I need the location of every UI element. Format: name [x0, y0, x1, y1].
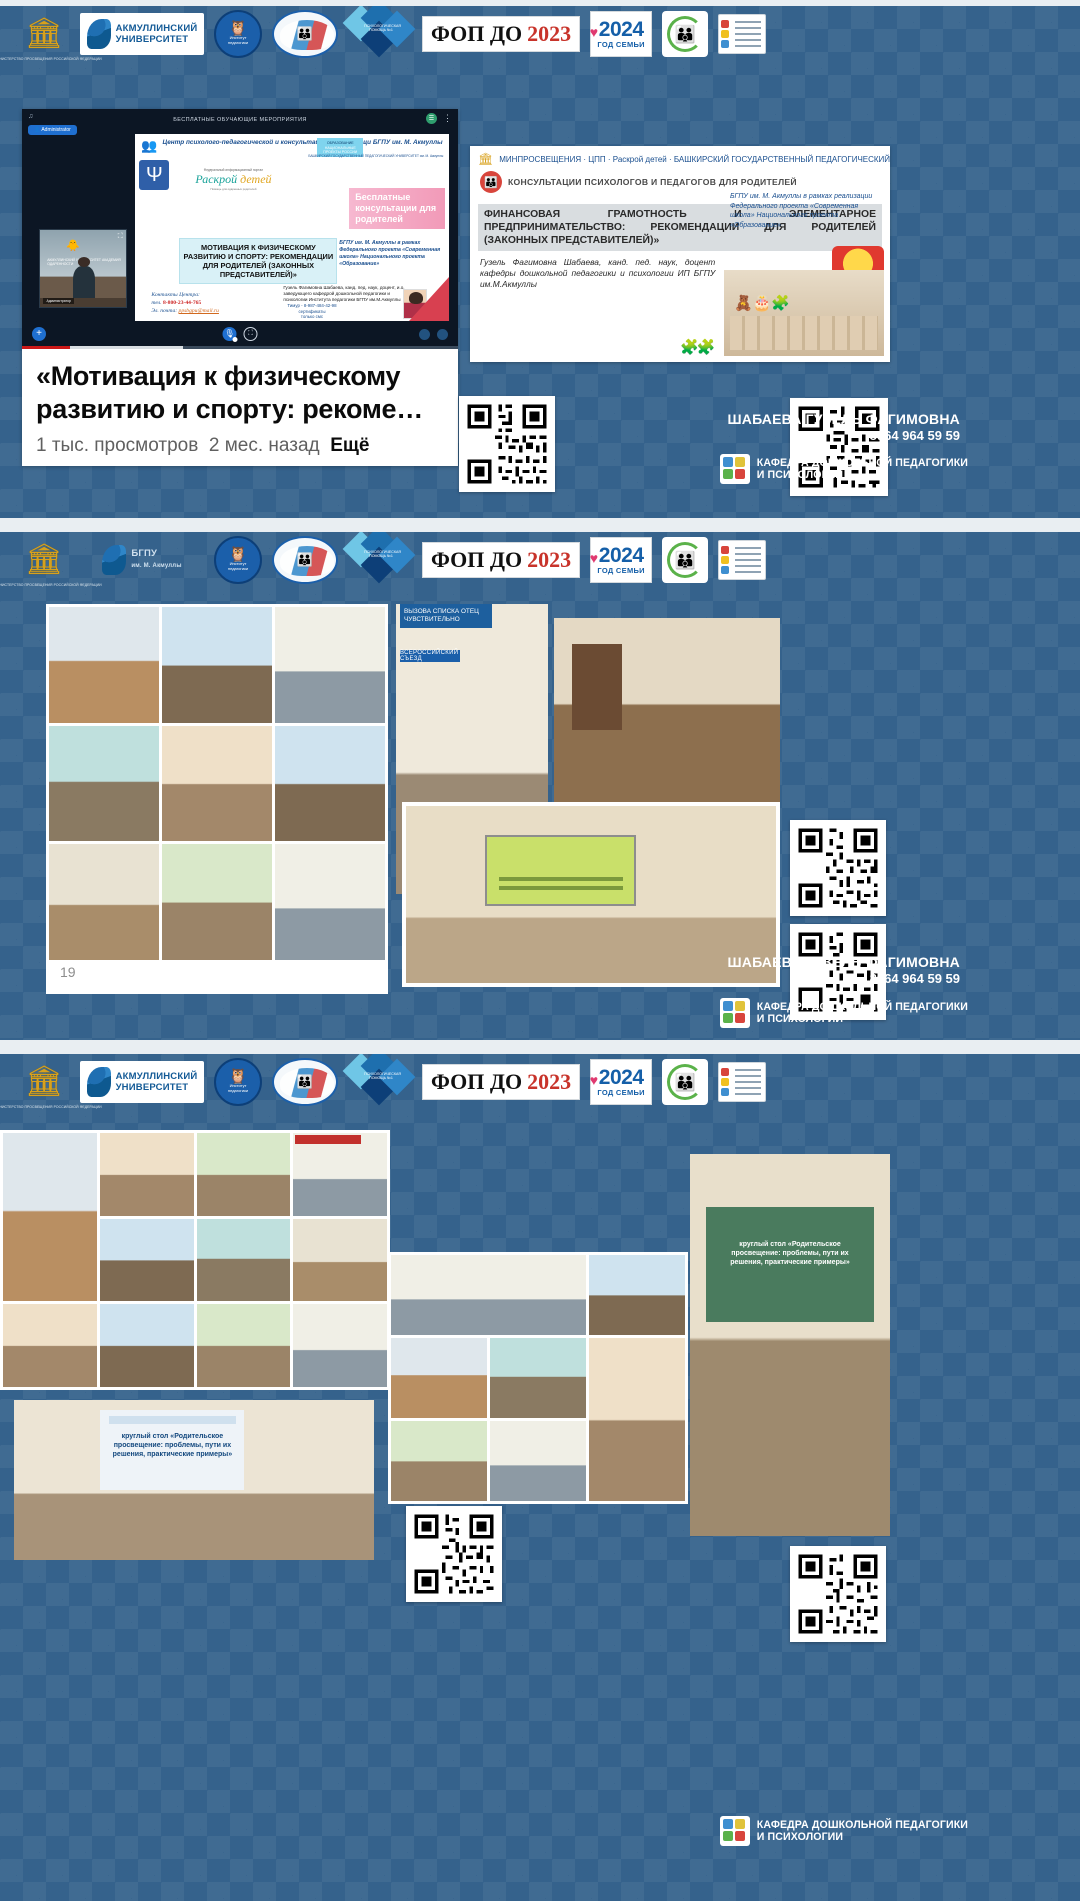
akmulla-line1: АКМУЛЛИНСКИЙ	[116, 23, 198, 34]
collage-photo	[293, 1219, 387, 1302]
slide-3-logo-strip: 🏛 МИНИСТЕРСТВО ПРОСВЕЩЕНИЯ РОССИЙСКОЙ ФЕ…	[0, 1054, 1080, 1110]
collage-photo	[490, 1338, 586, 1418]
poster-consult-title: КОНСУЛЬТАЦИИ ПСИХОЛОГОВ И ПЕДАГОГОВ ДЛЯ …	[508, 177, 797, 187]
russia-ministry-education-emblem-icon: 🏛 МИНИСТЕРСТВО ПРОСВЕЩЕНИЯ РОССИЙСКОЙ ФЕ…	[18, 8, 70, 60]
ombudsman-children-rights-logo-icon: 👪	[272, 536, 338, 584]
round-table-title: круглый стол «Родительское просвещение: …	[112, 1432, 233, 1459]
year-of-family-2024-logo-icon: 2024 ГОД СЕМЬИ	[590, 537, 652, 583]
presentation-red-corner	[409, 277, 449, 321]
expand-icon[interactable]: ⛶	[118, 233, 123, 241]
akmulla-university-logo-icon: АКМУЛЛИНСКИЙ УНИВЕРСИТЕТ	[80, 13, 204, 55]
slide-3-middle-collage	[388, 1252, 688, 1504]
russia-ministry-education-emblem-icon: 🏛 МИНИСТЕРСТВО ПРОСВЕЩЕНИЯ РОССИЙСКОЙ ФЕ…	[18, 1056, 70, 1108]
collage-photo	[100, 1219, 194, 1302]
slide-1-logo-strip: 🏛 МИНИСТЕРСТВО ПРОСВЕЩЕНИЯ РОССИЙСКОЙ ФЕ…	[0, 6, 1080, 62]
year-of-family-2024-logo-icon: 2024 ГОД СЕМЬИ	[590, 11, 652, 57]
slide-2-slide-number: 19	[60, 964, 76, 980]
fullscreen-icon[interactable]	[437, 329, 448, 340]
slide-3-qr-code-bottom-center[interactable]	[406, 1506, 502, 1602]
slide-2: 🏛 МИНИСТЕРСТВО ПРОСВЕЩЕНИЯ РОССИЙСКОЙ ФЕ…	[0, 532, 1080, 1040]
slide-3-qr-code-bottom-right[interactable]	[790, 1546, 886, 1642]
speaker-name: ШАБАЕВА ГУЗЕЛЬ ФАГИМОВНА	[728, 411, 961, 428]
projection-title: круглый стол «Родительское просвещение: …	[719, 1240, 860, 1267]
fop-do-2023-logo-icon: ФОП ДО 2023	[422, 542, 580, 578]
video-title[interactable]: «Мотивация к физическому развитию и спор…	[36, 360, 444, 426]
people-badge-icon: 👪	[480, 171, 502, 193]
collage-photo	[275, 607, 385, 723]
selfview-name-label: Администратор	[43, 298, 73, 304]
dept-line2: И ПСИХОЛОГИИ	[757, 1013, 843, 1025]
speaker-phone: 8964 964 59 59	[728, 428, 961, 444]
fop-do-2023-logo-icon: ФОП ДО 2023	[422, 16, 580, 52]
family-support-logo-icon: 👪	[662, 11, 708, 57]
camera-icon[interactable]: ⛶	[244, 327, 258, 341]
center-logo-people-icon: 👥	[141, 139, 157, 152]
dept-line1: КАФЕДРА ДОШКОЛЬНОЙ ПЕДАГОГИКИ	[757, 1001, 968, 1013]
slide-2-qr-code-upper-right[interactable]	[790, 820, 886, 916]
dept-line2: И ПСИХОЛОГИИ	[757, 469, 843, 481]
puzzle-icon: 🧩🧩	[680, 338, 713, 356]
player-topbar-title: БЕСПЛАТНЫЕ ОБУЧАЮЩИЕ МЕРОПРИЯТИЯ	[22, 109, 458, 131]
dept-line1: КАФЕДРА ДОШКОЛЬНОЙ ПЕДАГОГИКИ	[757, 457, 968, 469]
progress-bar[interactable]	[22, 346, 458, 349]
ombudsman-children-rights-logo-icon: 👪	[272, 10, 338, 58]
children-icon: 👪	[297, 1074, 313, 1090]
slide-3-three-speakers-photo: круглый стол «Родительское просвещение: …	[690, 1154, 890, 1536]
poster-photo: 🧸🎂🧩	[724, 270, 884, 356]
player-controls[interactable]: + 🎙 ⛶	[22, 325, 458, 349]
share-screen-icon[interactable]: ☰	[426, 113, 437, 124]
dept-line2: И ПСИХОЛОГИИ	[757, 1831, 843, 1843]
psi-letter-icon: Ψ	[139, 160, 169, 190]
youtube-player[interactable]: ♫ БЕСПЛАТНЫЕ ОБУЧАЮЩИЕ МЕРОПРИЯТИЯ 👤 Adm…	[22, 109, 458, 349]
owl-icon: 🦉	[229, 1070, 248, 1084]
dept-logo-icon	[720, 454, 750, 484]
russia-ministry-education-emblem-icon: 🏛 МИНИСТЕРСТВО ПРОСВЕЩЕНИЯ РОССИЙСКОЙ ФЕ…	[18, 534, 70, 586]
speaker-selfview-thumbnail[interactable]: 🐥 АКМУЛЛИНСКИЙ УНИВЕРСИТЕТ АКАДЕМИЯ ОДАР…	[39, 229, 126, 308]
collage-photo	[3, 1304, 97, 1387]
emblem-icon: 🏛	[478, 152, 493, 166]
institute-of-pedagogy-logo-icon: 🦉 Институт педагогики	[214, 1058, 262, 1106]
shared-presentation-slide: 👥 Центр психолого-педагогической и консу…	[135, 134, 449, 321]
notebook-dice-logo-icon	[718, 540, 766, 580]
psychological-help-logo-icon: ПСИХОЛОГИЧЕСКАЯ ПОМОЩЬ №1	[348, 1056, 412, 1108]
family-year: 2024	[599, 20, 644, 40]
akmulla-swoosh-icon	[87, 1067, 111, 1097]
collage-photo	[589, 1255, 685, 1335]
collage-photo	[162, 844, 272, 960]
collage-photo	[3, 1133, 97, 1301]
notebook-dice-logo-icon	[718, 14, 766, 54]
collage-photo	[275, 844, 385, 960]
speaker-name: ШАБАЕВА ГУЗЕЛЬ ФАГИМОВНА	[728, 954, 961, 971]
video-age: 2 мес. назад	[209, 435, 320, 456]
owl-icon: 🦉	[229, 22, 248, 36]
akmulla-university-logo-icon: АКМУЛЛИНСКИЙ УНИВЕРСИТЕТ	[80, 1061, 204, 1103]
qr-code-bottom-center-icon	[411, 1511, 497, 1597]
psych-help-caption: ПСИХОЛОГИЧЕСКАЯ ПОМОЩЬ №1	[364, 24, 398, 33]
year-of-family-2024-logo-icon: 2024 ГОД СЕМЬИ	[590, 1059, 652, 1105]
slide-2-hall-photo	[402, 802, 780, 987]
video-more-button[interactable]: Ещё	[330, 435, 369, 456]
slide-2-left-collage	[46, 604, 388, 994]
presentation-certificates-contact: Тимур - 8-987-484-42-98 сертификаты толь…	[287, 303, 336, 319]
swan-icon: 🐥	[66, 239, 80, 252]
ombudsman-children-rights-logo-icon: 👪	[272, 1058, 338, 1106]
family-support-logo-icon: 👪	[662, 1059, 708, 1105]
slide-3-dept-badge: КАФЕДРА ДОШКОЛЬНОЙ ПЕДАГОГИКИ И ПСИХОЛОГ…	[720, 1816, 968, 1846]
collage-photo	[197, 1304, 291, 1387]
speaker-phone: 8964 964 59 59	[728, 971, 961, 987]
slide-3: 🏛 МИНИСТЕРСТВО ПРОСВЕЩЕНИЯ РОССИЙСКОЙ ФЕ…	[0, 1054, 1080, 1901]
slide-deck-page: 🏛 МИНИСТЕРСТВО ПРОСВЕЩЕНИЯ РОССИЙСКОЙ ФЕ…	[0, 0, 1080, 1901]
poster-top-logos-text: МИНПРОСВЕЩЕНИЯ · ЦПП · Раскрой детей · Б…	[499, 155, 890, 164]
fop-label: ФОП ДО	[431, 23, 522, 45]
slide-2-speaker-caption: ШАБАЕВА ГУЗЕЛЬ ФАГИМОВНА 8964 964 59 59	[728, 954, 961, 987]
notebook-dice-logo-icon	[718, 1062, 766, 1102]
collage-photo	[391, 1338, 487, 1418]
slide-3-left-collage	[0, 1130, 390, 1390]
qr-code-bottom-right-icon	[795, 1551, 881, 1637]
slide-1-dept-badge: КАФЕДРА ДОШКОЛЬНОЙ ПЕДАГОГИКИ И ПСИХОЛОГ…	[720, 454, 968, 484]
akmulla-swoosh-icon	[87, 19, 111, 49]
slide-1-speaker-caption: ШАБАЕВА ГУЗЕЛЬ ФАГИМОВНА 8964 964 59 59	[728, 411, 961, 444]
children-icon: 👪	[297, 552, 313, 568]
collage-caption-row	[49, 963, 385, 991]
fop-do-2023-logo-icon: ФОП ДО 2023	[422, 1064, 580, 1100]
collage-photo	[391, 1421, 487, 1501]
youtube-video-card[interactable]: ♫ БЕСПЛАТНЫЕ ОБУЧАЮЩИЕ МЕРОПРИЯТИЯ 👤 Adm…	[22, 109, 458, 466]
slide-2-logo-strip: 🏛 МИНИСТЕРСТВО ПРОСВЕЩЕНИЯ РОССИЙСКОЙ ФЕ…	[0, 532, 1080, 588]
dept-line1: КАФЕДРА ДОШКОЛЬНОЙ ПЕДАГОГИКИ	[757, 1819, 968, 1831]
dept-logo-icon	[720, 1816, 750, 1846]
emblem-caption: МИНИСТЕРСТВО ПРОСВЕЩЕНИЯ РОССИЙСКОЙ ФЕДЕ…	[0, 57, 94, 61]
microphone-icon[interactable]: 🎙	[223, 327, 237, 341]
page-gap-1	[0, 518, 1080, 532]
children-icon: 👪	[297, 26, 313, 42]
raskroi-portal-logo: Федеральный информационный портал Раскро…	[195, 168, 271, 191]
video-views: 1 тыс. просмотров	[36, 435, 198, 456]
player-top-right-controls[interactable]: ☰ ⋮	[426, 113, 452, 124]
admin-badge: 👤 Administrator	[28, 125, 77, 135]
more-options-icon[interactable]: ⋮	[443, 114, 452, 123]
slide-1-qr-code-left[interactable]	[459, 396, 555, 492]
institute-of-pedagogy-logo-icon: 🦉 Институт педагогики	[214, 536, 262, 584]
collage-photo	[589, 1338, 685, 1501]
slide-1-poster: 🏛 МИНПРОСВЕЩЕНИЯ · ЦПП · Раскрой детей ·…	[470, 146, 890, 362]
collage-photo	[275, 726, 385, 842]
poster-top-logos: 🏛 МИНПРОСВЕЩЕНИЯ · ЦПП · Раскрой детей ·…	[470, 146, 890, 168]
collage-photo	[197, 1219, 291, 1302]
collage-photo	[293, 1133, 387, 1216]
add-icon[interactable]: +	[32, 327, 46, 341]
collage-photo	[49, 726, 159, 842]
red-banner	[295, 1135, 361, 1144]
collage-photo	[100, 1133, 194, 1216]
collage-photo	[100, 1304, 194, 1387]
free-consultations-banner: Бесплатные консультации для родителей	[349, 188, 445, 229]
dept-logo-icon	[720, 998, 750, 1028]
slide-2-dept-badge: КАФЕДРА ДОШКОЛЬНОЙ ПЕДАГОГИКИ И ПСИХОЛОГ…	[720, 998, 968, 1028]
akmulla-line2: УНИВЕРСИТЕТ	[116, 34, 189, 45]
institute-of-pedagogy-logo-icon: 🦉 Институт педагогики	[214, 10, 262, 58]
poster-bgpu-text: БГПУ им. М. Акмуллы в рамках реализации …	[730, 192, 880, 230]
family-support-logo-icon: 👪	[662, 537, 708, 583]
psychological-help-logo-icon: ПСИХОЛОГИЧЕСКАЯ ПОМОЩЬ №1	[348, 8, 412, 60]
slide-2-seminar-photo	[554, 618, 780, 804]
right-photo-projection: круглый стол «Родительское просвещение: …	[706, 1207, 874, 1322]
projection-screen	[485, 835, 636, 905]
collage-photo	[49, 607, 159, 723]
akmulla-swoosh-icon	[102, 545, 126, 575]
page-gap-2	[0, 1040, 1080, 1054]
psychological-help-logo-icon: ПСИХОЛОГИЧЕСКАЯ ПОМОЩЬ №1	[348, 534, 412, 586]
collage-photo	[490, 1421, 586, 1501]
presentation-right-text: БГПУ им. М. Акмуллы в рамках Федеральног…	[339, 240, 443, 268]
slide-1: 🏛 МИНИСТЕРСТВО ПРОСВЕЩЕНИЯ РОССИЙСКОЙ ФЕ…	[0, 6, 1080, 518]
qr-code-left-icon	[464, 401, 550, 487]
slide-3-round-table-photo: круглый стол «Родительское просвещение: …	[14, 1400, 374, 1560]
collage-photo	[162, 607, 272, 723]
round-table-projection: круглый стол «Родительское просвещение: …	[100, 1410, 244, 1490]
presentation-bgpu-logo: БАШКИРСКИЙ ГОСУДАРСТВЕННЫЙ ПЕДАГОГИЧЕСКИ…	[308, 144, 443, 162]
qr-code-upper-right-icon	[795, 825, 881, 911]
collage-photo	[197, 1133, 291, 1216]
collage-photo	[162, 726, 272, 842]
youtube-video-meta: «Мотивация к физическому развитию и спор…	[22, 349, 458, 466]
slide-2-banner: ВСЕРОССИЙСКИЙ СЪЕЗД	[400, 650, 460, 662]
presentation-speaker-bio: Гузель Фагимовна Шабаева, канд. пед. нау…	[283, 285, 405, 303]
video-stats: 1 тыс. просмотров 2 мес. назад Ещё	[36, 435, 444, 457]
presentation-slide-title: МОТИВАЦИЯ К ФИЗИЧЕСКОМУ РАЗВИТИЮ И СПОРТ…	[179, 238, 337, 284]
instped-line2: педагогики	[228, 41, 248, 46]
fop-year: 2023	[527, 23, 571, 45]
family-subtitle: ГОД СЕМЬИ	[597, 40, 644, 49]
owl-icon: 🦉	[229, 548, 248, 562]
akmulla-university-logo-icon: БГПУим. М. Акмуллы	[80, 539, 204, 581]
settings-icon[interactable]	[419, 329, 430, 340]
collage-photo	[293, 1304, 387, 1387]
poster-bio: Гузель Фагимовна Шабаева, канд. пед. нау…	[480, 257, 715, 290]
slide-2-vlist-banner: ВЫЗОВА СПИСКА ОТЕЦ ЧУВСТВИТЕЛЬНО	[400, 604, 492, 628]
presentation-contacts: Контакты Центра: тел. 8-800-23-44-765 Эл…	[151, 291, 219, 315]
collage-photo	[391, 1255, 586, 1335]
collage-photo	[49, 844, 159, 960]
